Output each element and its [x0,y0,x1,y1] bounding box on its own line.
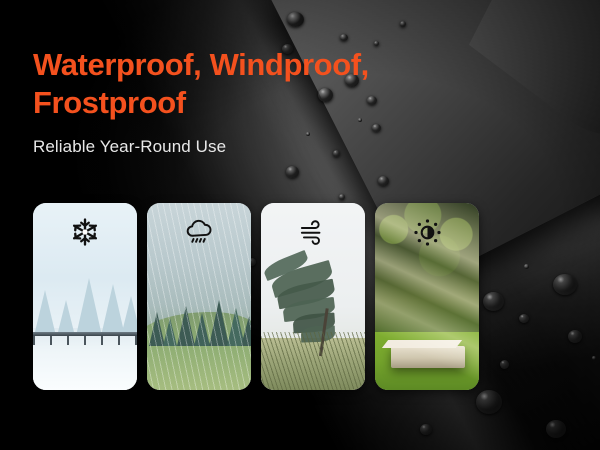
feature-card-row [33,203,479,390]
product-feature-banner: Waterproof, Windproof, Frostproof Reliab… [0,0,600,450]
sun-brightness-icon [375,217,479,248]
page-subtitle: Reliable Year-Round Use [33,137,369,157]
page-title: Waterproof, Windproof, Frostproof [33,46,369,122]
feature-card-snow[interactable] [33,203,137,390]
snowflake-icon [33,217,137,247]
feature-card-wind[interactable] [261,203,365,390]
headline-block: Waterproof, Windproof, Frostproof Reliab… [33,46,369,157]
wind-icon [261,217,365,248]
rain-cloud-icon [147,217,251,248]
feature-card-sun[interactable] [375,203,479,390]
feature-card-rain[interactable] [147,203,251,390]
